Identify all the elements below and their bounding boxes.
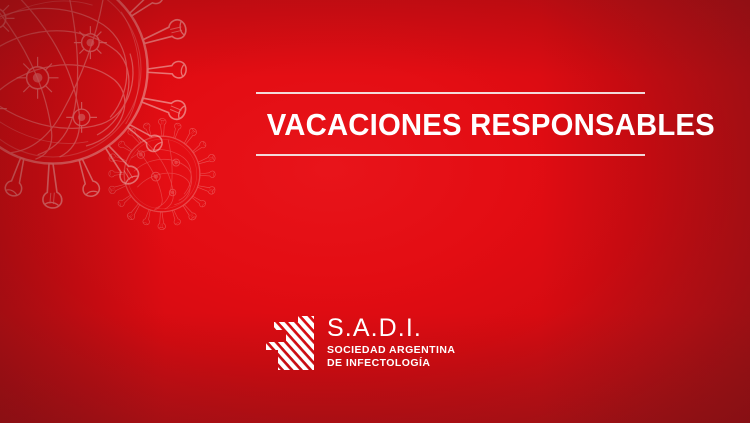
page-title: VACACIONES RESPONSABLES	[267, 94, 635, 154]
sadi-logo: S.A.D.I. SOCIEDAD ARGENTINA DE INFECTOLO…	[264, 313, 455, 370]
title-block: VACACIONES RESPONSABLES	[256, 92, 645, 156]
sadi-acronym: S.A.D.I.	[327, 315, 455, 341]
sadi-diagonal-stripes-mark-icon	[264, 316, 314, 370]
presentation-slide: VACACIONES RESPONSABLES	[0, 0, 750, 423]
sadi-logo-wordmark: S.A.D.I. SOCIEDAD ARGENTINA DE INFECTOLO…	[327, 313, 455, 370]
sadi-subtitle-line-2: DE INFECTOLOGÍA	[327, 357, 455, 370]
sadi-subtitle-line-1: SOCIEDAD ARGENTINA	[327, 344, 455, 357]
title-rule-bottom	[256, 154, 645, 156]
